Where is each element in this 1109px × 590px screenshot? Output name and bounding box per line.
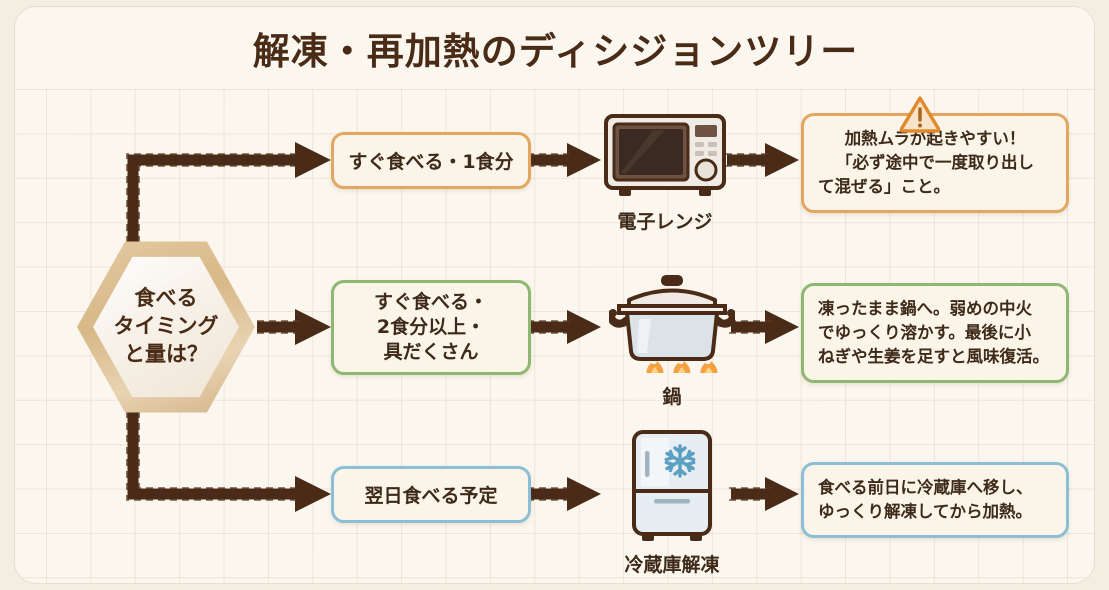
result-box-fridge[interactable]: 食べる前日に冷蔵庫へ移し、 ゆっくり解凍してから加熱。 [801, 462, 1069, 538]
condition-label-pot-line2: 2食分以上・ [377, 315, 485, 340]
root-decision-label: 食べる タイミング と量は？ [77, 238, 255, 416]
root-line-2: タイミング [114, 313, 219, 341]
result-line-2: でゆっくり溶かす。最後に小 [818, 321, 1052, 345]
condition-label-fridge: 翌日食べる予定 [364, 481, 497, 508]
result-line-1: 食べる前日に冷蔵庫へ移し、 [818, 476, 1052, 500]
infographic-card: 解凍・再加熱のディシジョンツリー [14, 6, 1095, 584]
condition-box-fridge[interactable]: 翌日食べる予定 [331, 466, 531, 523]
page-title: 解凍・再加熱のディシジョンツリー [15, 21, 1095, 75]
warning-triangle-icon [899, 95, 941, 133]
infographic-canvas: 解凍・再加熱のディシジョンツリー [0, 0, 1109, 590]
result-line-2: ゆっくり解凍してから加熱。 [818, 500, 1052, 524]
condition-box-pot[interactable]: すぐ食べる・ 2食分以上・ 具だくさん [331, 280, 531, 375]
result-line-1: 凍ったまま鍋へ。弱めの中火 [818, 297, 1052, 321]
result-box-pot[interactable]: 凍ったまま鍋へ。弱めの中火 でゆっくり溶かす。最後に小 ねぎや生姜を足すと風味復… [801, 283, 1069, 383]
result-line-3: て混ぜる」こと。 [818, 175, 1052, 199]
condition-label-pot-line3: 具だくさん [383, 340, 478, 365]
appliance-label-microwave: 電子レンジ [603, 207, 727, 234]
refrigerator-icon [629, 429, 715, 543]
result-line-2: 「必ず途中で一度取り出し [818, 151, 1052, 175]
root-line-1: 食べる [135, 285, 198, 313]
microwave-icon [603, 113, 727, 199]
pot-icon [609, 273, 735, 373]
root-line-3: と量は？ [124, 341, 208, 369]
appliance-label-fridge: 冷蔵庫解凍 [599, 550, 745, 577]
appliance-label-pot: 鍋 [609, 382, 735, 409]
result-line-3: ねぎや生姜を足すと風味復活。 [818, 345, 1052, 369]
root-decision-hexagon[interactable]: 食べる タイミング と量は？ [77, 238, 255, 416]
condition-label-pot-line1: すぐ食べる・ [374, 290, 488, 315]
condition-box-microwave[interactable]: すぐ食べる・1食分 [331, 132, 531, 189]
condition-label-microwave: すぐ食べる・1食分 [348, 147, 513, 174]
